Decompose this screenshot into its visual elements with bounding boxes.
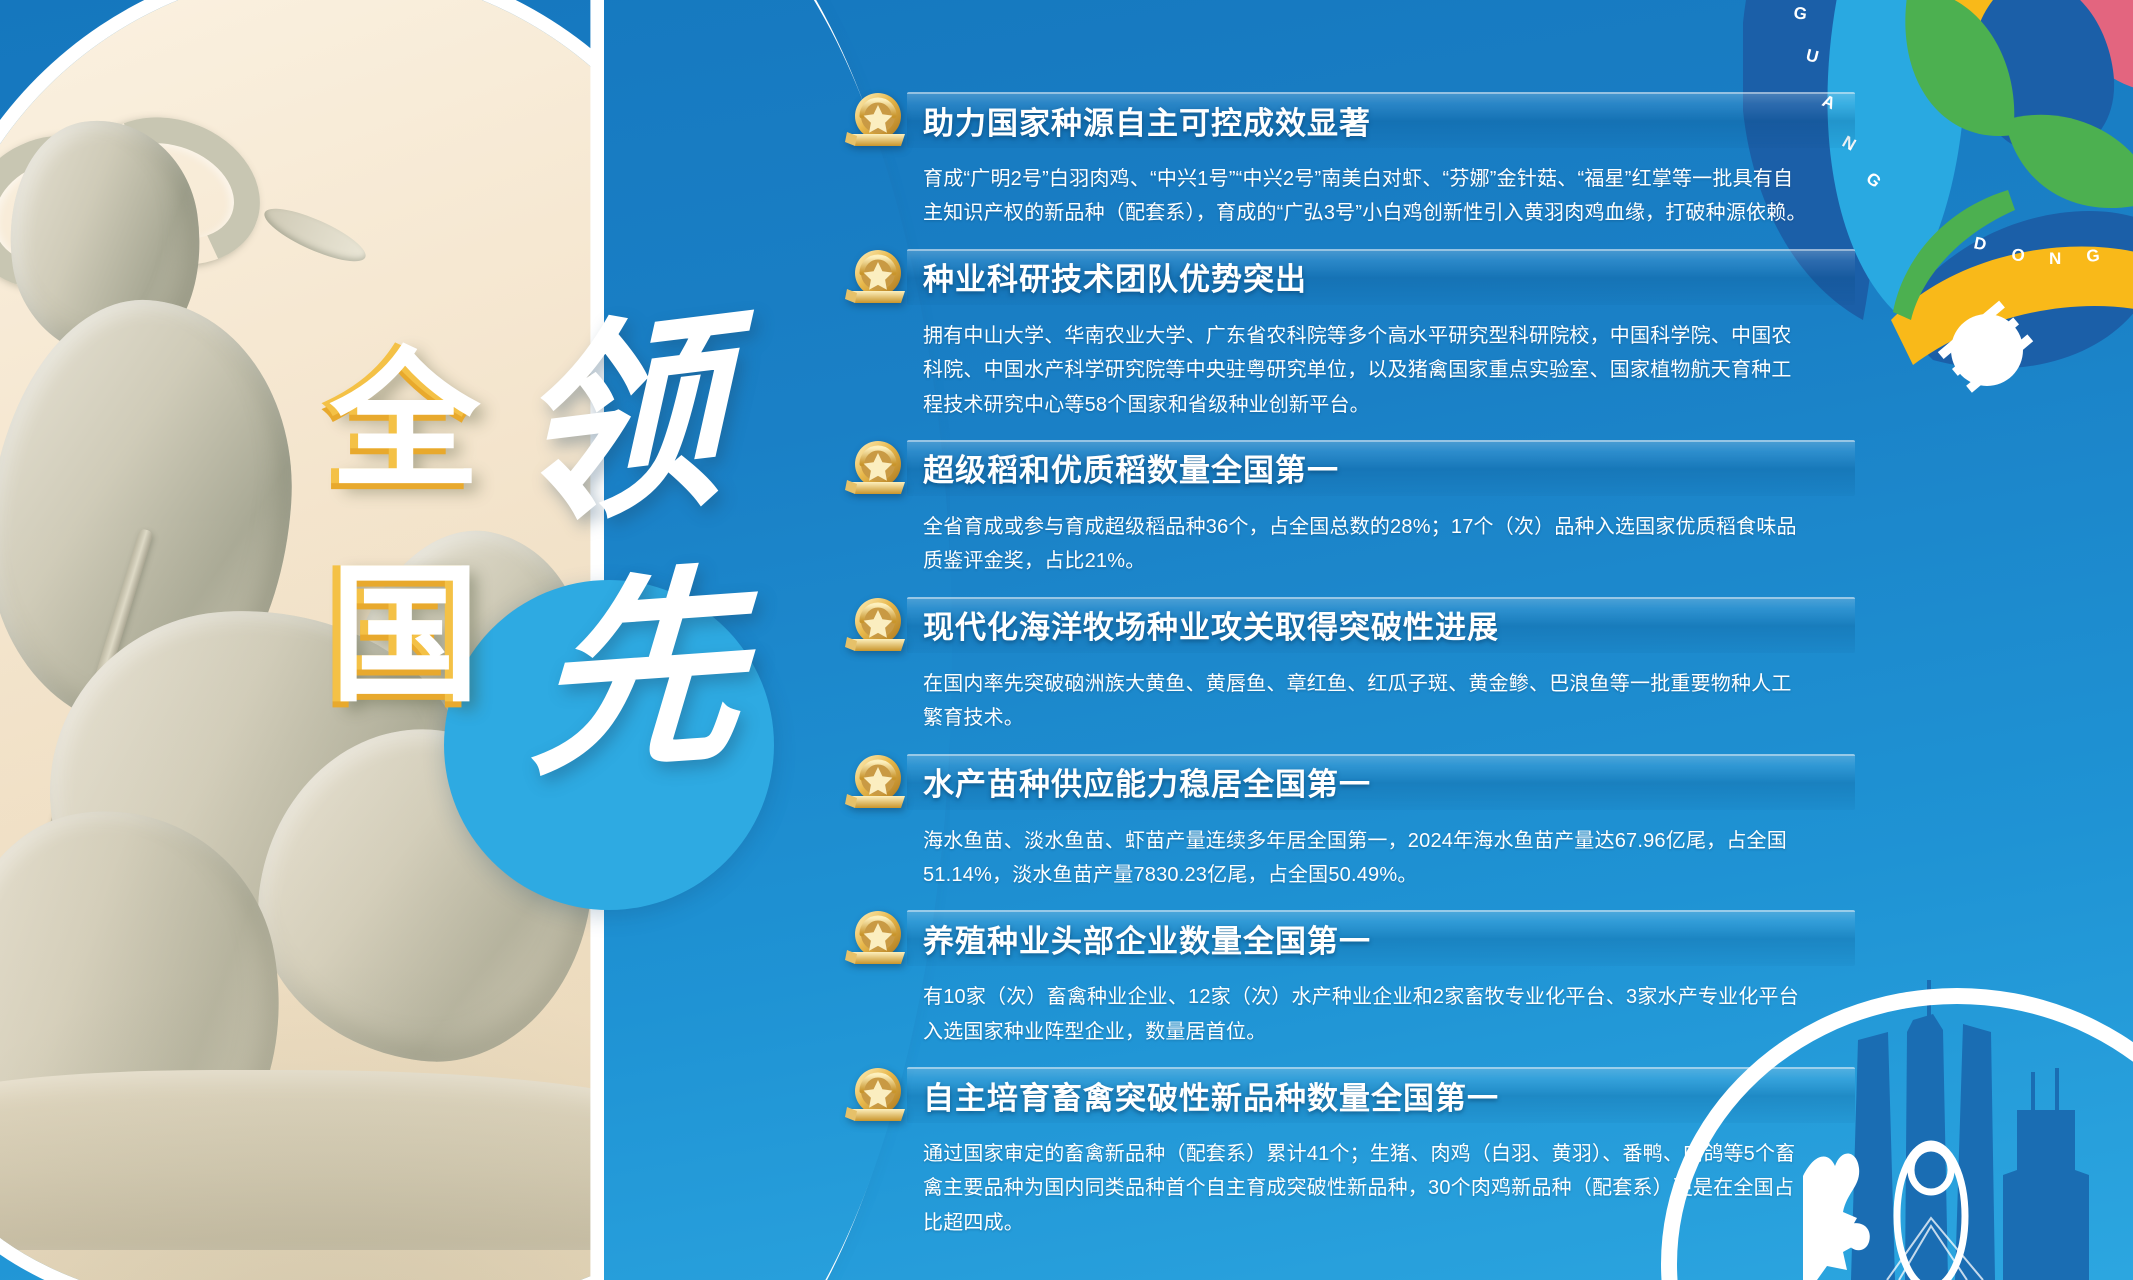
item-title: 养殖种业头部企业数量全国第一 (923, 916, 1371, 961)
item-body: 全省育成或参与育成超级稻品种36个，占全国总数的28%；17个（次）品种入选国家… (923, 510, 1808, 579)
gold-medal-icon (845, 752, 911, 816)
gold-medal-icon (845, 1065, 911, 1129)
item-header: 种业科研技术团队优势突出 (845, 249, 1855, 305)
logo-letter-o: O (2011, 245, 2026, 265)
item-body: 海水鱼苗、淡水鱼苗、虾苗产量连续多年居全国第一，2024年海水鱼苗产量达67.9… (923, 824, 1808, 893)
list-item: 现代化海洋牧场种业攻关取得突破性进展 在国内率先突破硇洲族大黄鱼、黄唇鱼、章红鱼… (845, 597, 1855, 736)
item-title: 现代化海洋牧场种业攻关取得突破性进展 (923, 602, 1499, 647)
statue-plinth-shape (0, 1070, 670, 1250)
item-title: 水产苗种供应能力稳居全国第一 (923, 759, 1371, 804)
item-title: 自主培育畜禽突破性新品种数量全国第一 (923, 1073, 1499, 1118)
logo-letter-n2: N (2049, 249, 2061, 268)
ram-staff-shape (0, 528, 154, 1125)
item-header: 现代化海洋牧场种业攻关取得突破性进展 (845, 597, 1855, 653)
item-title: 种业科研技术团队优势突出 (923, 254, 1307, 299)
ram-head-shape (0, 108, 216, 372)
item-header: 助力国家种源自主可控成效显著 (845, 92, 1855, 148)
hero-char-xian: 先 (527, 562, 748, 788)
item-header: 自主培育畜禽突破性新品种数量全国第一 (845, 1067, 1855, 1123)
item-title: 超级稻和优质稻数量全国第一 (923, 445, 1339, 490)
item-title: 助力国家种源自主可控成效显著 (923, 98, 1371, 143)
gold-medal-icon (845, 90, 911, 154)
ram-horn-left-icon (0, 109, 161, 316)
list-item: 超级稻和优质稻数量全国第一 全省育成或参与育成超级稻品种36个，占全国总数的28… (845, 440, 1855, 579)
logo-letter-g1: G (1792, 3, 1808, 24)
item-header: 养殖种业头部企业数量全国第一 (845, 910, 1855, 966)
item-body: 育成“广明2号”白羽肉鸡、“中兴1号”“中兴2号”南美白对虾、“芬娜”金针菇、“… (923, 162, 1808, 231)
ram-tertiary-shape (0, 784, 310, 1216)
hero-char-quan: 全 (330, 346, 482, 496)
poster-root: 全 国 领 先 (0, 0, 2133, 1280)
list-item: 助力国家种源自主可控成效显著 育成“广明2号”白羽肉鸡、“中兴1号”“中兴2号”… (845, 92, 1855, 231)
list-item: 种业科研技术团队优势突出 拥有中山大学、华南农业大学、广东省农科院等多个高水平研… (845, 249, 1855, 422)
ram-horn-right-icon (61, 93, 281, 289)
item-body: 在国内率先突破硇洲族大黄鱼、黄唇鱼、章红鱼、红瓜子斑、黄金鲹、巴浪鱼等一批重要物… (923, 667, 1808, 736)
hero-char-ling: 领 (511, 305, 723, 542)
list-item: 水产苗种供应能力稳居全国第一 海水鱼苗、淡水鱼苗、虾苗产量连续多年居全国第一，2… (845, 754, 1855, 893)
achievements-list: 助力国家种源自主可控成效显著 育成“广明2号”白羽肉鸡、“中兴1号”“中兴2号”… (845, 92, 1855, 1258)
gold-medal-icon (845, 595, 911, 659)
item-header: 超级稻和优质稻数量全国第一 (845, 440, 1855, 496)
logo-letter-g3: G (2085, 246, 2100, 266)
item-body: 有10家（次）畜禽种业企业、12家（次）水产种业企业和2家畜牧专业化平台、3家水… (923, 980, 1808, 1049)
gold-medal-icon (845, 247, 911, 311)
rice-ear-shape (259, 199, 372, 271)
item-header: 水产苗种供应能力稳居全国第一 (845, 754, 1855, 810)
gold-medal-icon (845, 908, 911, 972)
item-body: 拥有中山大学、华南农业大学、广东省农科院等多个高水平研究型科研院校，中国科学院、… (923, 319, 1808, 422)
ram-neck-shape (0, 290, 305, 740)
gold-medal-icon (845, 438, 911, 502)
list-item: 养殖种业头部企业数量全国第一 有10家（次）畜禽种业企业、12家（次）水产种业企… (845, 910, 1855, 1049)
hero-title: 全 国 领 先 (322, 330, 842, 970)
hero-char-guo: 国 (330, 560, 482, 710)
